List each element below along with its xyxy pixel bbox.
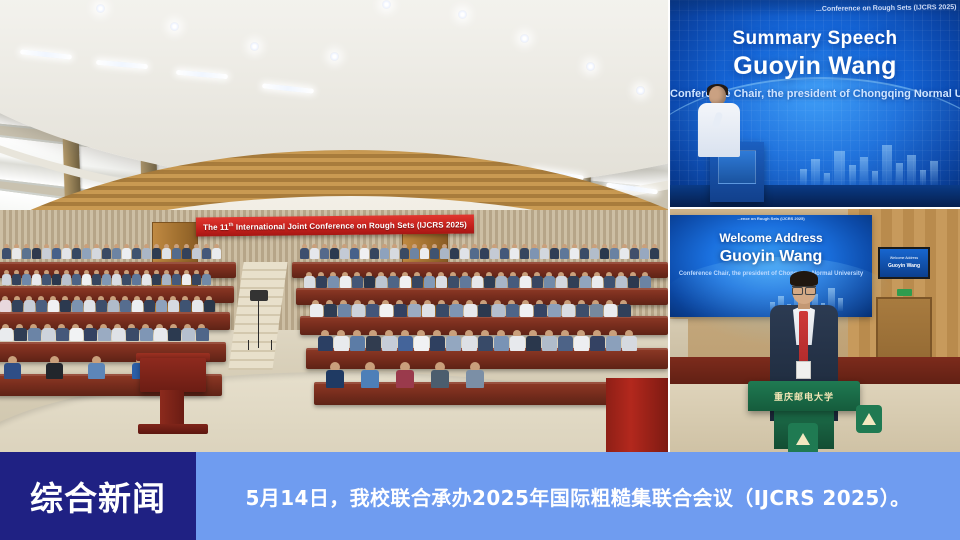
screen-header-strip: ...Conference on Rough Sets (IJCRS 2025) xyxy=(670,0,960,16)
monitor-line-2: Guoyin Wang xyxy=(880,263,928,269)
speaker-glasses xyxy=(792,286,816,292)
exit-sign xyxy=(897,289,912,296)
ceiling-downlight xyxy=(250,42,259,51)
news-category-label: 综合新闻 xyxy=(30,472,166,520)
slide-speaker-name: Guoyin Wang xyxy=(670,248,872,266)
speaker-badge xyxy=(796,361,811,379)
slide-title: Summary Speech xyxy=(670,28,960,50)
ceiling-downlight xyxy=(330,52,339,61)
podium-stem xyxy=(160,390,184,426)
welcome-address-photo: ...ence on Rough Sets (IJCRS 2025) Welco… xyxy=(670,209,960,452)
conference-banner: The 11th International Joint Conference … xyxy=(196,215,474,237)
ceiling-downlight xyxy=(636,86,645,95)
ceiling-downlight xyxy=(586,62,595,71)
audience-row xyxy=(310,300,631,319)
side-monitor: Welcome Address Guoyin Wang xyxy=(878,247,930,279)
ceiling-downlight xyxy=(170,22,179,31)
audience-row xyxy=(0,296,215,313)
skyline-graphic xyxy=(800,137,950,185)
speaker-lanyard xyxy=(799,311,808,365)
green-podium: 重庆邮电大学 xyxy=(748,381,860,411)
ceiling-downlight xyxy=(458,10,467,19)
screen-header-text: ...ence on Rough Sets (IJCRS 2025) xyxy=(670,216,872,221)
photo-divider-horizontal xyxy=(668,207,960,209)
audience-row xyxy=(318,330,637,352)
audience-row xyxy=(300,244,659,259)
university-emblem-icon xyxy=(856,405,882,433)
ceiling-downlight xyxy=(382,0,391,9)
monitor-line-1: Welcome Address xyxy=(880,256,928,260)
slide-speaker-name: Guoyin Wang xyxy=(670,52,960,81)
summary-speech-photo: ...Conference on Rough Sets (IJCRS 2025)… xyxy=(670,0,960,207)
screen-header-text: ...Conference on Rough Sets (IJCRS 2025) xyxy=(816,4,957,13)
audience-row xyxy=(0,324,209,343)
podium-university-name: 重庆邮电大学 xyxy=(748,381,860,411)
ceiling-downlight xyxy=(520,34,529,43)
speaker-podium xyxy=(140,358,206,392)
audience-row-front xyxy=(326,362,484,388)
news-headline-container: 5月14日，我校联合承办2025年国际粗糙集联合会议（IJCRS 2025）。 xyxy=(196,452,960,540)
slide-title: Welcome Address xyxy=(670,231,872,245)
speaker-figure xyxy=(698,86,740,156)
conference-banner-text: The 11th International Joint Conference … xyxy=(203,219,467,231)
news-category-tag[interactable]: 综合新闻 xyxy=(0,452,196,540)
podium-base xyxy=(138,424,208,434)
audience-row-front xyxy=(4,356,149,380)
speaker-hair xyxy=(790,271,818,286)
ceiling-downlight xyxy=(96,4,105,13)
university-emblem-icon xyxy=(788,423,818,452)
news-caption-bar: 综合新闻 5月14日，我校联合承办2025年国际粗糙集联合会议（IJCRS 20… xyxy=(0,452,960,540)
main-auditorium-photo: The 11th International Joint Conference … xyxy=(0,0,668,452)
news-collage-page: The 11th International Joint Conference … xyxy=(0,0,960,540)
audience-row xyxy=(304,272,651,289)
photo-divider-vertical xyxy=(668,0,670,452)
news-headline-text: 5月14日，我校联合承办2025年国际粗糙集联合会议（IJCRS 2025）。 xyxy=(245,482,910,511)
red-drape xyxy=(606,378,668,452)
audience-row xyxy=(2,244,221,259)
audience-row xyxy=(2,270,211,285)
camera-tripod xyxy=(258,300,259,348)
